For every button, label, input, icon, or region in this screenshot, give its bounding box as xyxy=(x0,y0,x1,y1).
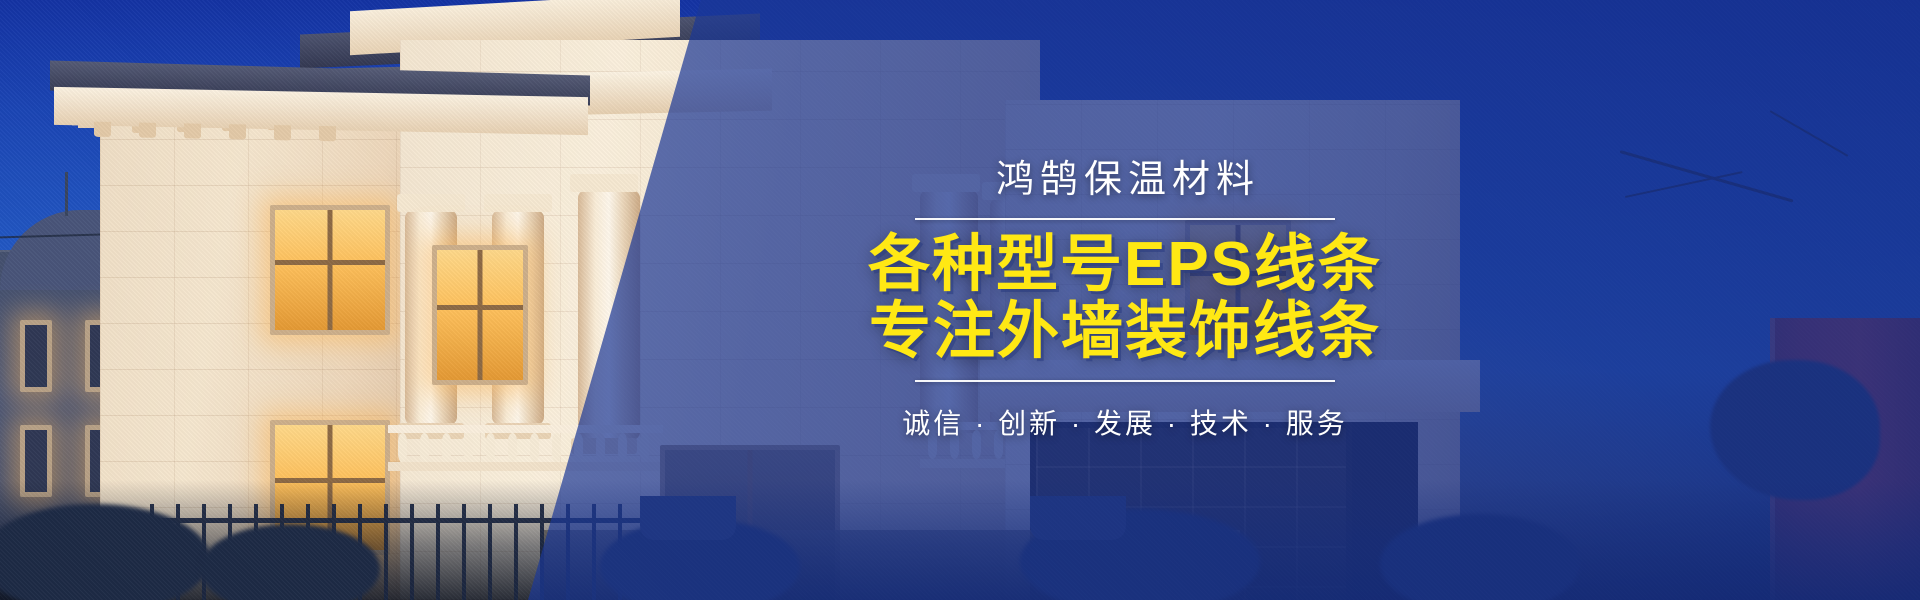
divider-bottom xyxy=(915,380,1335,382)
hero-banner: 鸿鹄保温材料 各种型号EPS线条 专注外墙装饰线条 诚信 · 创新 · 发展 ·… xyxy=(0,0,1920,600)
tagline: 诚信 · 创新 · 发展 · 技术 · 服务 xyxy=(902,402,1348,442)
brand-name: 鸿鹄保温材料 xyxy=(996,158,1260,204)
headline-line-1: 各种型号EPS线条 xyxy=(868,232,1382,299)
divider-top xyxy=(915,218,1335,220)
headline-line-2: 专注外墙装饰线条 xyxy=(869,299,1381,366)
banner-content: 鸿鹄保温材料 各种型号EPS线条 专注外墙装饰线条 诚信 · 创新 · 发展 ·… xyxy=(0,0,1920,600)
